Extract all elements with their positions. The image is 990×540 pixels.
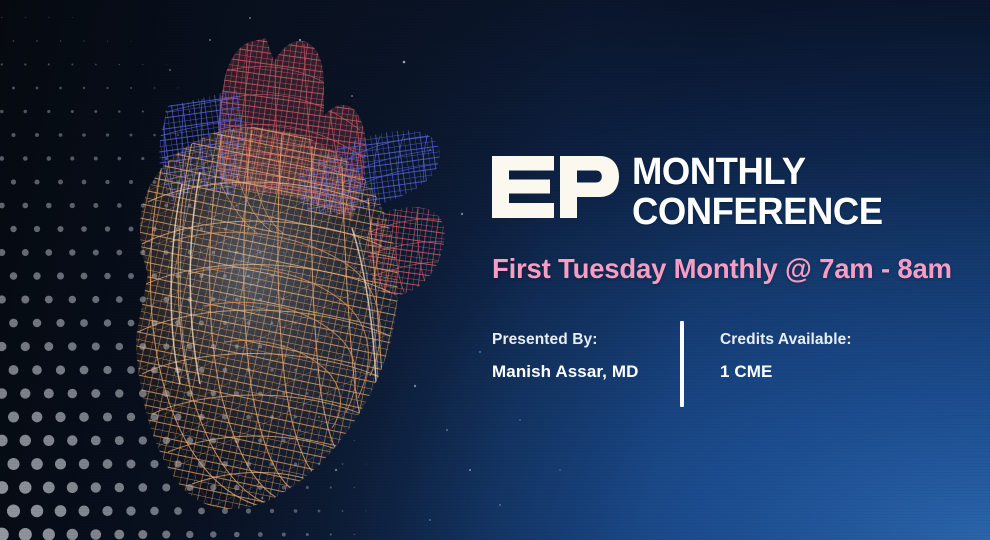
meta-row: Presented By: Manish Assar, MD Credits A… xyxy=(492,321,962,411)
schedule-subtitle: First Tuesday Monthly @ 7am - 8am xyxy=(492,253,962,285)
credits-block: Credits Available: 1 CME xyxy=(684,321,852,382)
ep-monthly-conference-banner: MONTHLY CONFERENCE First Tuesday Monthly… xyxy=(0,0,990,540)
credits-value: 1 CME xyxy=(720,362,852,382)
credits-label: Credits Available: xyxy=(720,331,852,349)
presenter-label: Presented By: xyxy=(492,331,680,349)
title-block: MONTHLY CONFERENCE xyxy=(492,152,962,231)
presenter-name: Manish Assar, MD xyxy=(492,362,680,382)
banner-content: MONTHLY CONFERENCE First Tuesday Monthly… xyxy=(492,152,962,411)
ep-logo xyxy=(492,156,619,218)
title-line-1: MONTHLY xyxy=(632,154,883,190)
presenter-block: Presented By: Manish Assar, MD xyxy=(492,321,680,382)
title-line-2: CONFERENCE xyxy=(632,194,883,230)
